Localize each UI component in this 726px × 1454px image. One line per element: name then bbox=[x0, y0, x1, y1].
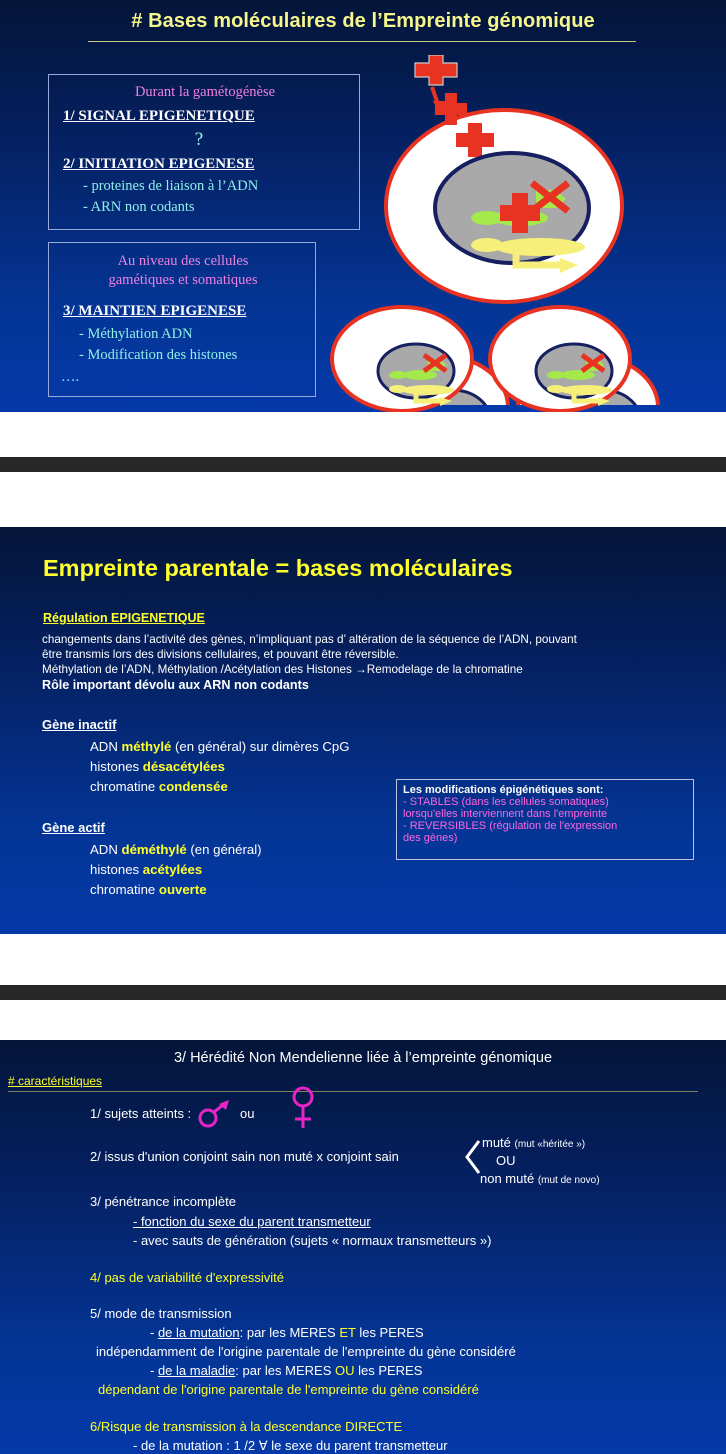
gene-inactif-lines: ADN méthylé (en général) sur dimères CpG… bbox=[90, 737, 349, 797]
slide2-paragraph: changements dans l’activité des gènes, n… bbox=[42, 632, 682, 693]
box1-bullet-2: - ARN non codants bbox=[83, 199, 195, 216]
highlight: déméthylé bbox=[122, 842, 187, 857]
gene-inactif-line-3: chromatine condensée bbox=[90, 777, 349, 797]
slide3-item-3: 3/ pénétrance incomplète bbox=[90, 1194, 236, 1209]
paragraph-line-1: changements dans l’activité des gènes, n… bbox=[42, 632, 682, 647]
txt: - bbox=[150, 1363, 158, 1378]
branch-top-label: muté bbox=[482, 1135, 511, 1150]
highlight: ET bbox=[339, 1325, 355, 1340]
item1-ou: ou bbox=[240, 1106, 254, 1121]
paragraph-line-2: être transmis lors des divisions cellula… bbox=[42, 647, 682, 662]
item6-sub-1: - de la mutation : 1 /2 ∀ le sexe du par… bbox=[133, 1438, 448, 1454]
female-symbol-icon bbox=[288, 1084, 318, 1132]
gene-actif-line-1: ADN déméthylé (en général) bbox=[90, 840, 262, 860]
note-box-line-3: - REVERSIBLES (régulation de l'expressio… bbox=[403, 820, 693, 832]
txt: ADN bbox=[90, 739, 122, 754]
separator-bar-2 bbox=[0, 985, 726, 1000]
daughter-cell-left bbox=[332, 307, 472, 411]
note-box-title: Les modifications épigénétiques sont: bbox=[403, 784, 693, 796]
slide1-title: # Bases moléculaires de l’Empreinte géno… bbox=[0, 10, 726, 33]
box2-bullet-2: - Modification des histones bbox=[79, 347, 237, 364]
slide-3: 3/ Hérédité Non Mendelienne liée à l’emp… bbox=[0, 1040, 726, 1454]
branch-top-note: (mut «héritée ») bbox=[515, 1139, 586, 1150]
daughter-cells-svg bbox=[320, 301, 640, 412]
cell-epigenetic-diagram bbox=[360, 55, 680, 405]
branch-bottom-note: (mut de novo) bbox=[538, 1175, 600, 1186]
branch-bottom-label: non muté bbox=[480, 1171, 534, 1186]
slide1-box-gametogenese: Durant la gamétogénèse 1/ SIGNAL EPIGENE… bbox=[48, 74, 360, 230]
txt: (en général) bbox=[187, 842, 262, 857]
slide-deck-page: # Bases moléculaires de l’Empreinte géno… bbox=[0, 0, 726, 1454]
item6-pre: 6/Risque de transmission à la descendanc… bbox=[90, 1419, 345, 1434]
note-box-line-1: - STABLES (dans les cellules somatiques) bbox=[403, 796, 693, 808]
highlight: méthylé bbox=[122, 739, 172, 754]
txt: chromatine bbox=[90, 882, 159, 897]
item6-highlight: DIRECTE bbox=[345, 1419, 402, 1434]
slide3-title: 3/ Hérédité Non Mendelienne liée à l’emp… bbox=[0, 1050, 726, 1066]
highlight: désacétylées bbox=[143, 759, 225, 774]
slide3-item-6: 6/Risque de transmission à la descendanc… bbox=[90, 1419, 402, 1434]
txt: (en général) sur dimères CpG bbox=[171, 739, 349, 754]
underlined: de la maladie bbox=[158, 1363, 235, 1378]
slide3-caracteristiques: # caractéristiques bbox=[8, 1074, 102, 1088]
slide3-item-4: 4/ pas de variabilité d'expressivité bbox=[90, 1270, 284, 1285]
slide1-title-rule bbox=[88, 41, 636, 42]
slide3-item-5: 5/ mode de transmission bbox=[90, 1306, 232, 1321]
item5-sub-1: - de la mutation: par les MERES ET les P… bbox=[150, 1325, 424, 1340]
box2-bullet-1: - Méthylation ADN bbox=[79, 326, 193, 343]
txt: : par les MERES bbox=[235, 1363, 335, 1378]
highlight: acétylées bbox=[143, 862, 202, 877]
item1-text: 1/ sujets atteints : bbox=[90, 1106, 191, 1121]
slide-2: Empreinte parentale = bases moléculaires… bbox=[0, 527, 726, 934]
txt: ADN bbox=[90, 842, 122, 857]
box1-heading: Durant la gamétogénèse bbox=[49, 83, 361, 102]
box1-question-mark: ? bbox=[49, 129, 349, 151]
daughter-cell-right bbox=[490, 307, 630, 411]
highlight: condensée bbox=[159, 779, 228, 794]
paragraph-line-3: Méthylation de l’ADN, Méthylation /Acéty… bbox=[42, 662, 682, 677]
highlight: ouverte bbox=[159, 882, 207, 897]
item2-branch-bottom: non muté (mut de novo) bbox=[480, 1171, 600, 1186]
item5-sub-2: - de la maladie: par les MERES OU les PE… bbox=[150, 1363, 422, 1378]
gene-actif-lines: ADN déméthylé (en général) histones acét… bbox=[90, 840, 262, 900]
slide-1: # Bases moléculaires de l’Empreinte géno… bbox=[0, 0, 726, 412]
item3-sub-1: - fonction du sexe du parent transmetteu… bbox=[133, 1214, 371, 1229]
item5-line-4: dépendant de l'origine parentale de l'em… bbox=[98, 1382, 479, 1397]
txt: chromatine bbox=[90, 779, 159, 794]
txt: - bbox=[150, 1325, 158, 1340]
txt: : par les MERES bbox=[240, 1325, 340, 1340]
item5-line-2: indépendamment de l'origine parentale de… bbox=[96, 1344, 516, 1359]
male-symbol-icon bbox=[196, 1098, 236, 1128]
box1-bullet-1: - proteines de liaison à l’ADN bbox=[83, 178, 258, 195]
separator-bar-1 bbox=[0, 457, 726, 472]
highlight: OU bbox=[335, 1363, 355, 1378]
box2-bullet-3: …. bbox=[61, 369, 79, 386]
gene-inactif-heading: Gène inactif bbox=[42, 717, 116, 732]
item2-branch-mid: OU bbox=[496, 1153, 516, 1168]
gene-actif-line-3: chromatine ouverte bbox=[90, 880, 262, 900]
txt: histones bbox=[90, 759, 143, 774]
slide3-item-1: 1/ sujets atteints : bbox=[90, 1106, 191, 1121]
red-cross-signal-free bbox=[415, 55, 457, 85]
slide3-rule bbox=[8, 1091, 698, 1092]
gene-inactif-line-2: histones désacétylées bbox=[90, 757, 349, 777]
slide1-box-maintien: Au niveau des cellules gamétiques et som… bbox=[48, 242, 316, 397]
gene-inactif-line-1: ADN méthylé (en général) sur dimères CpG bbox=[90, 737, 349, 757]
box2-heading-line2: gamétiques et somatiques bbox=[49, 271, 317, 290]
epigenetic-note-box: Les modifications épigénétiques sont: - … bbox=[396, 779, 694, 860]
txt: histones bbox=[90, 862, 143, 877]
gene-actif-line-2: histones acétylées bbox=[90, 860, 262, 880]
txt: les PERES bbox=[354, 1363, 422, 1378]
underlined: de la mutation bbox=[158, 1325, 240, 1340]
item3-sub-2: - avec sauts de génération (sujets « nor… bbox=[133, 1233, 491, 1248]
txt: les PERES bbox=[356, 1325, 424, 1340]
box1-item1: 1/ SIGNAL EPIGENETIQUE bbox=[63, 108, 255, 125]
box2-item3: 3/ MAINTIEN EPIGENESE bbox=[63, 303, 246, 320]
brace-icon bbox=[462, 1139, 482, 1177]
slide3-item-2: 2/ issus d'union conjoint sain non muté … bbox=[90, 1149, 399, 1164]
item2-branch-top: muté (mut «héritée ») bbox=[482, 1135, 585, 1150]
box1-item2: 2/ INITIATION EPIGENESE bbox=[63, 156, 254, 173]
gene-actif-heading: Gène actif bbox=[42, 820, 105, 835]
paragraph-line-4: Rôle important dévolu aux ARN non codant… bbox=[42, 678, 682, 693]
note-box-line-2: lorsqu'elles interviennent dans l'emprei… bbox=[403, 808, 693, 820]
slide2-subtitle: Régulation EPIGENETIQUE bbox=[43, 611, 205, 625]
box2-heading-line1: Au niveau des cellules bbox=[49, 252, 317, 271]
note-box-line-4: des gènes) bbox=[403, 832, 693, 844]
slide2-title: Empreinte parentale = bases moléculaires bbox=[43, 555, 513, 582]
